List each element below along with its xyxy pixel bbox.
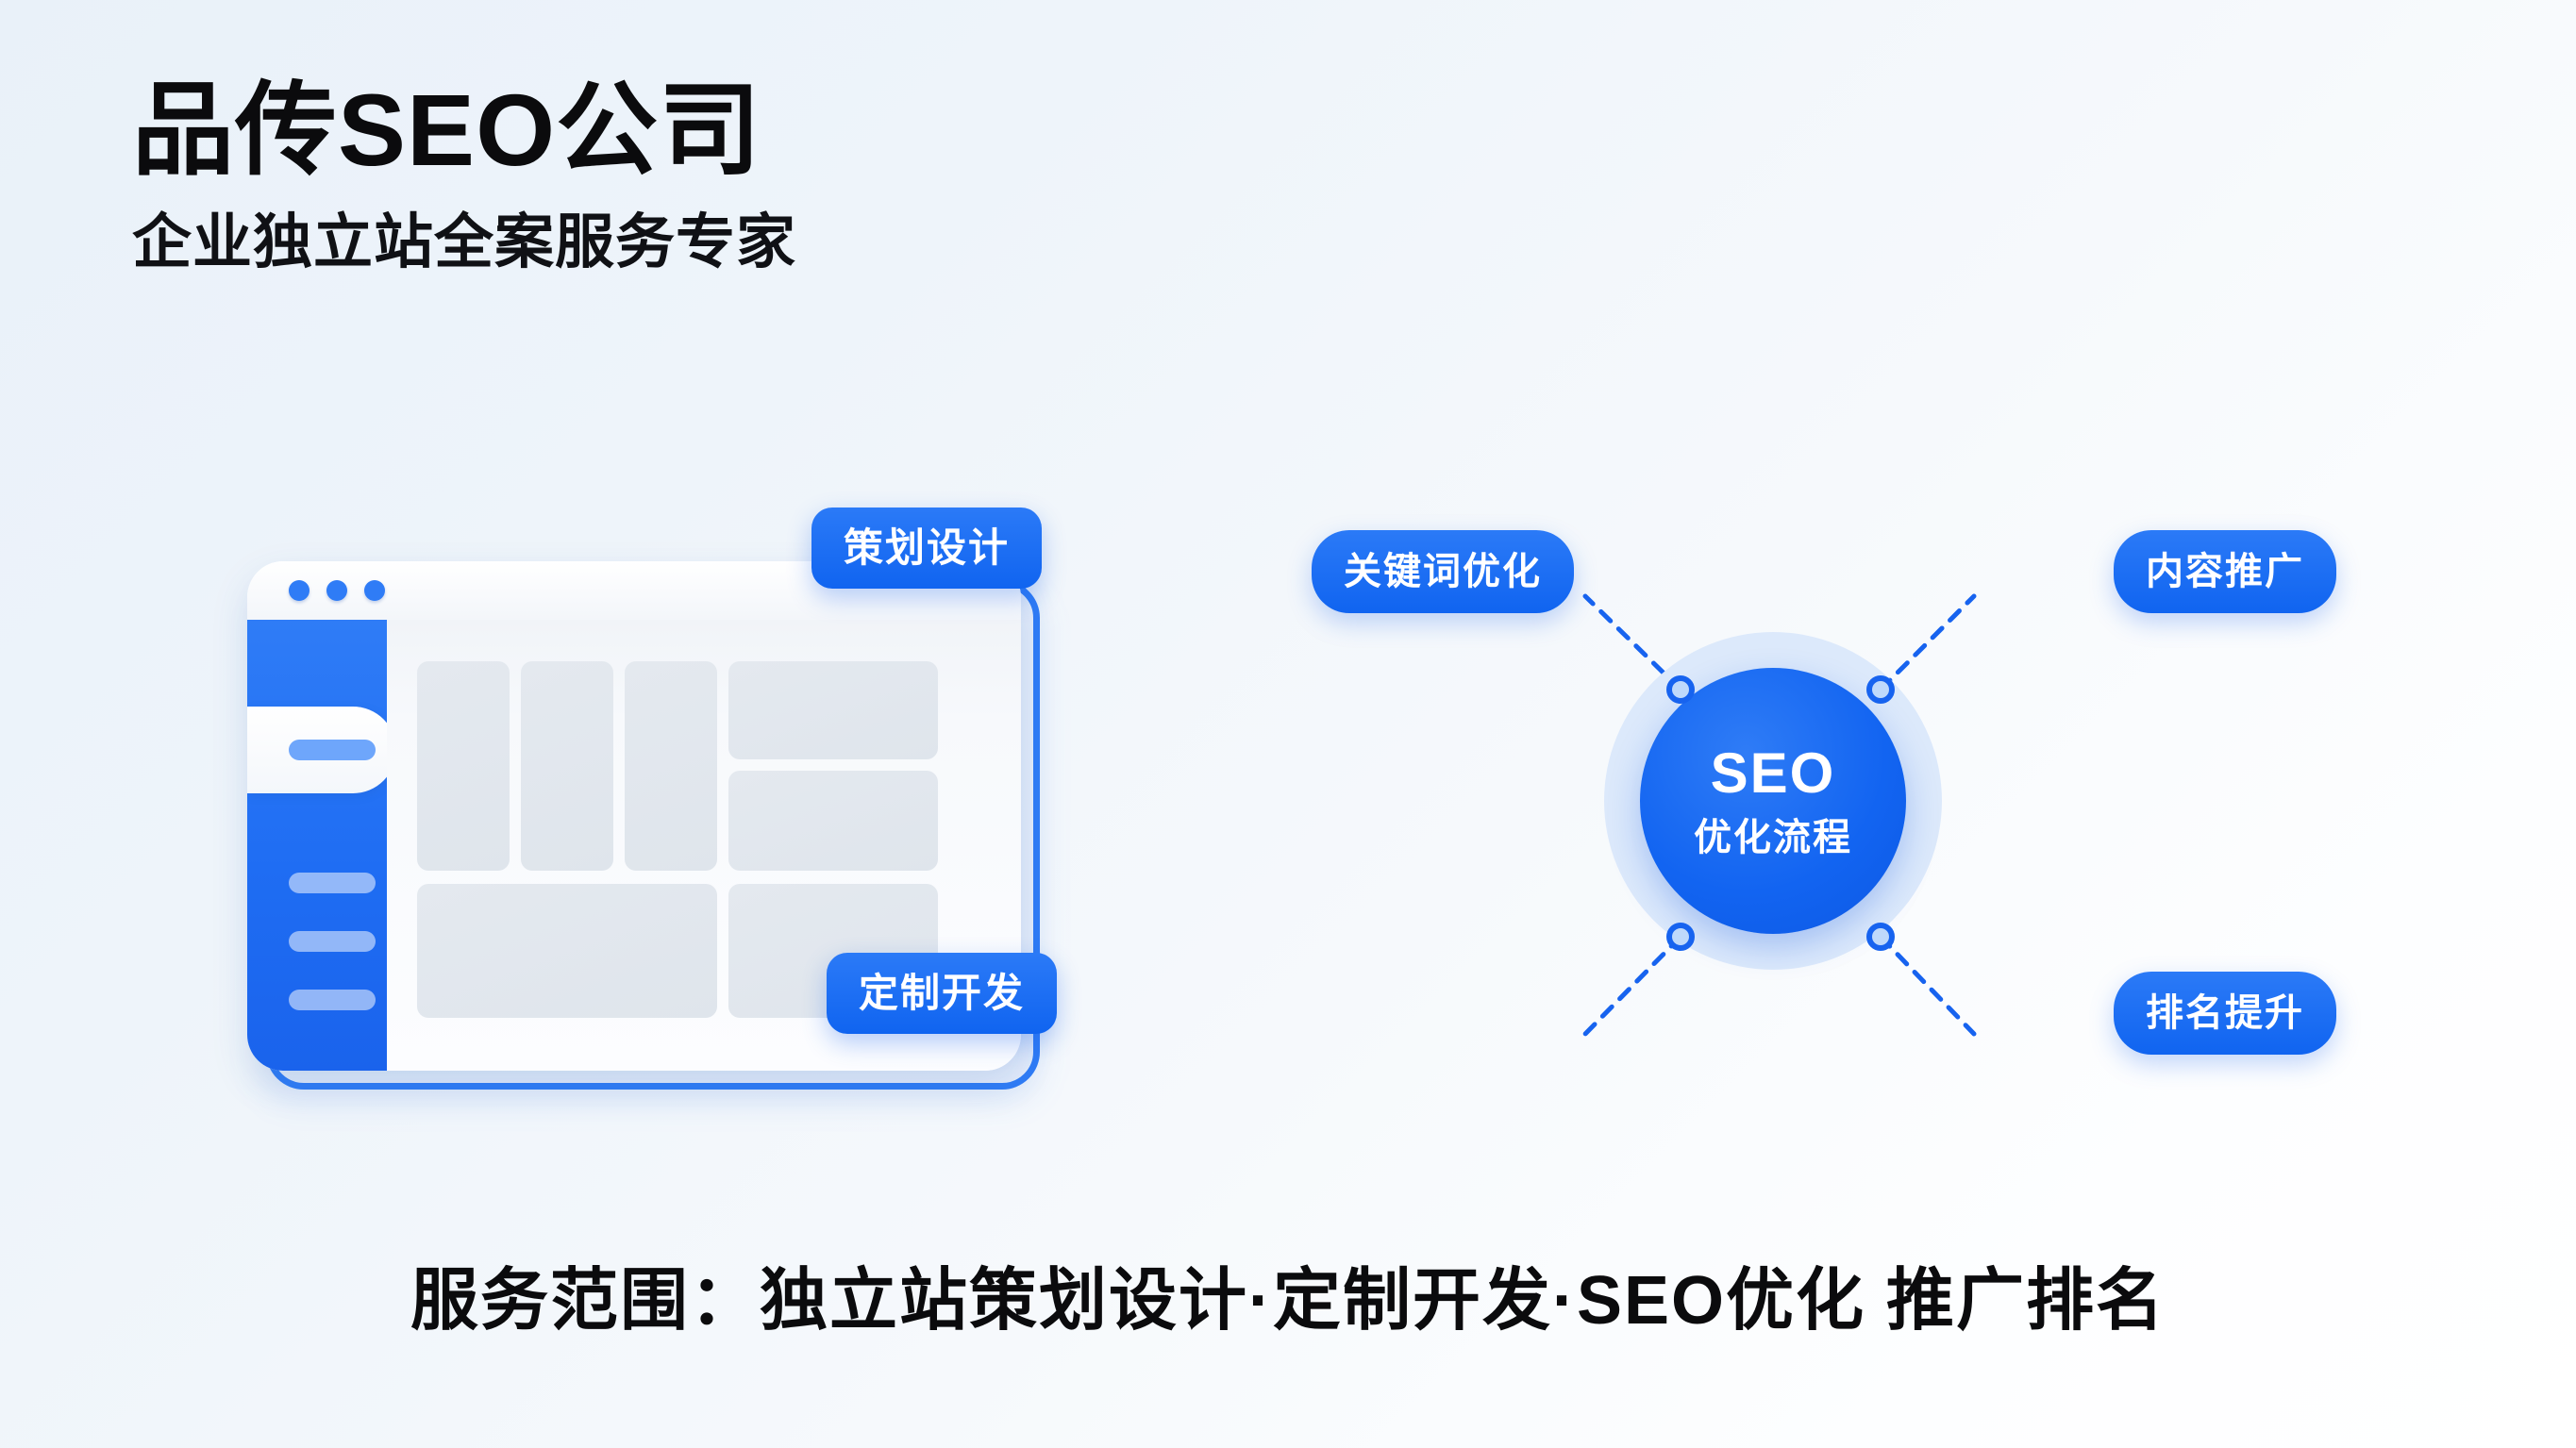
badge-planning-design: 策划设计 [811, 508, 1042, 589]
seo-center-circle: SEO 优化流程 [1640, 668, 1906, 934]
seo-node-dot-bottom-left [1666, 923, 1695, 951]
content-block [728, 661, 938, 759]
window-controls [289, 580, 385, 601]
page-title: 品传SEO公司 [132, 75, 796, 186]
sidebar-item-bar [289, 740, 376, 760]
content-block [521, 661, 613, 871]
service-scope-banner: 服务范围：独立站策划设计·定制开发·SEO优化 推广排名 [0, 1264, 2576, 1339]
sidebar-item-active [247, 707, 396, 793]
header: 品传SEO公司 企业独立站全案服务专家 [132, 75, 796, 275]
sidebar-item-bar [289, 931, 376, 952]
badge-custom-development: 定制开发 [827, 953, 1057, 1034]
seo-node-dot-top-right [1866, 675, 1895, 704]
sidebar-item-bar [289, 873, 376, 893]
content-block [728, 771, 938, 871]
seo-center-subtitle: 优化流程 [1694, 819, 1852, 857]
seo-process-illustration: SEO 优化流程 关键词优化 内容推广 排名提升 [1302, 509, 2529, 1170]
content-block [625, 661, 717, 871]
content-block [417, 661, 510, 871]
mockup-sidebar [247, 620, 387, 1071]
seo-label-keyword-optimization: 关键词优化 [1312, 530, 1574, 613]
sidebar-item-bar [289, 990, 376, 1010]
content-block [417, 884, 717, 1018]
seo-node-dot-top-left [1666, 675, 1695, 704]
seo-label-content-promotion: 内容推广 [2114, 530, 2336, 613]
seo-center-title: SEO [1711, 745, 1836, 802]
window-dot-icon [326, 580, 347, 601]
page-subtitle: 企业独立站全案服务专家 [132, 210, 796, 275]
seo-node-dot-bottom-right [1866, 923, 1895, 951]
seo-label-ranking-improvement: 排名提升 [2114, 972, 2336, 1055]
window-dot-icon [289, 580, 309, 601]
window-dot-icon [364, 580, 385, 601]
